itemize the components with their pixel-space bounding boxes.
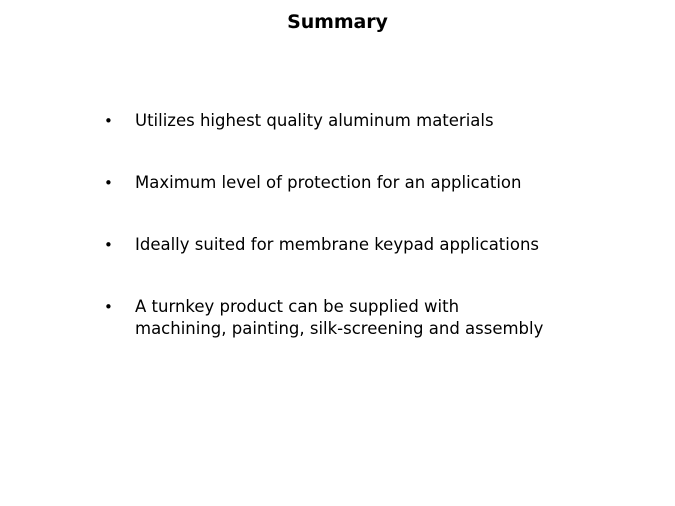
list-item: • Maximum level of protection for an app… [100,172,620,194]
list-item: • Ideally suited for membrane keypad app… [100,234,620,256]
bullet-point-icon: • [104,110,114,132]
list-item: • A turnkey product can be supplied with… [100,296,620,340]
list-item-label: Ideally suited for membrane keypad appli… [135,234,620,256]
summary-bullet-list: • Utilizes highest quality aluminum mate… [100,110,620,340]
list-item: • Utilizes highest quality aluminum mate… [100,110,620,132]
list-item-label: Utilizes highest quality aluminum materi… [135,110,620,132]
bullet-point-icon: • [104,172,114,194]
list-item-label: Maximum level of protection for an appli… [135,172,620,194]
bullet-point-icon: • [104,234,114,256]
slide-canvas: Summary • Utilizes highest quality alumi… [0,0,675,506]
bullet-point-icon: • [104,296,114,318]
page-title: Summary [0,10,675,34]
list-item-label: A turnkey product can be supplied with m… [135,296,620,340]
